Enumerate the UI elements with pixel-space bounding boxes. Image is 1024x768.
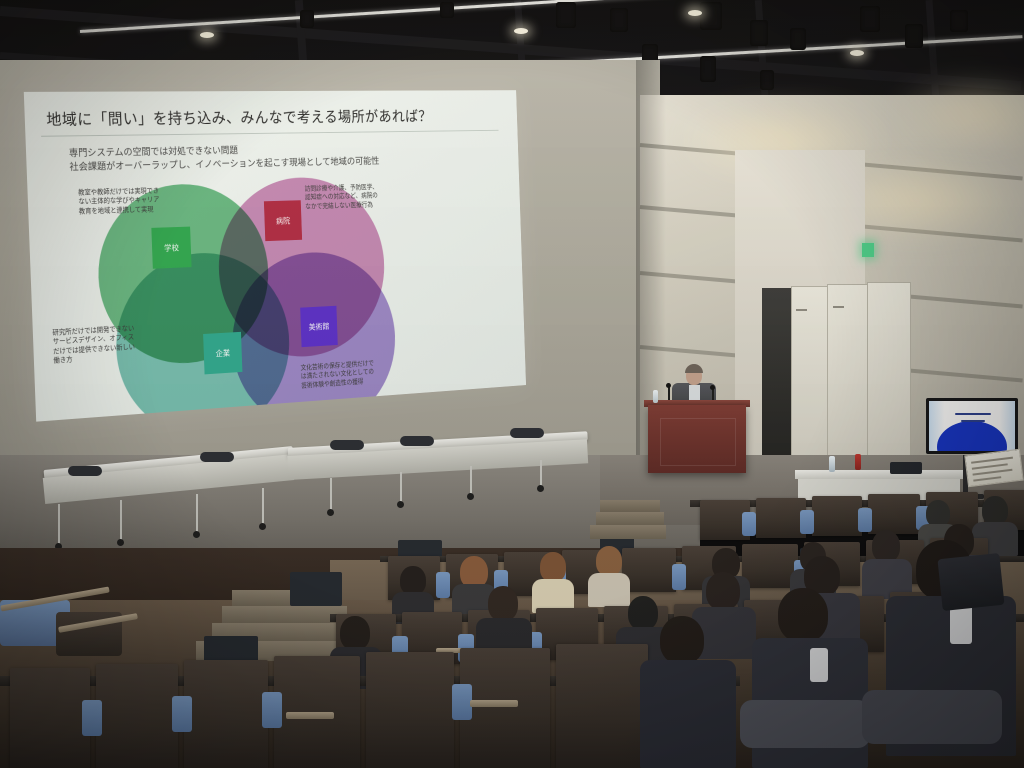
slide-title-rule — [41, 130, 498, 137]
slide-title: 地域に「問い」を持ち込み、みんなで考える場所があれば？ — [46, 105, 432, 130]
thermos-bottle — [855, 454, 861, 470]
venn-label-school: 学校 — [151, 227, 191, 269]
stage-chair — [400, 436, 434, 446]
av-table — [795, 470, 965, 479]
exit-sign — [862, 243, 874, 257]
monitor-slide-arc — [937, 421, 1007, 451]
stage-step — [590, 525, 666, 539]
water-bottle — [829, 456, 835, 472]
stage-step — [600, 500, 660, 512]
microphone-head — [710, 385, 715, 390]
door-panel[interactable] — [867, 282, 911, 470]
empty-seat-cushion[interactable] — [0, 648, 52, 688]
stage-step — [596, 512, 664, 525]
door-panel[interactable] — [791, 286, 829, 468]
stage-chair — [68, 466, 102, 476]
stage-step — [222, 606, 347, 623]
venn-note-hospital: 訪問診療や介護、予防医学、 認知症への対応など、病院の なかで完結しない医療行為 — [305, 182, 420, 211]
trousers — [862, 690, 1002, 744]
door-panel[interactable] — [827, 284, 869, 470]
venn-label-hospital: 病院 — [264, 200, 302, 241]
folding-chair[interactable] — [937, 553, 1004, 611]
stage-light — [556, 2, 576, 28]
venn-note-school: 教室や教師だけでは実現でき ない主体的な学びやキャリア 教育を地域と連携して実現 — [78, 186, 201, 217]
printed-sign — [964, 449, 1023, 488]
venn-label-museum: 美術館 — [300, 306, 338, 347]
dress-shirt-collar — [810, 648, 828, 682]
auditorium-photo: 地域に「問い」を持ち込み、みんなで考える場所があれば？ 専門システムの空間では対… — [0, 0, 1024, 768]
open-doorway — [762, 288, 792, 463]
confidence-monitor — [926, 398, 1018, 454]
stage-chair — [200, 452, 234, 462]
stage-chair — [510, 428, 544, 438]
microphone-head — [666, 383, 671, 388]
projection-screen: 地域に「問い」を持ち込み、みんなで考える場所があれば？ 専門システムの空間では対… — [24, 90, 526, 421]
podium-front-panel — [660, 418, 736, 466]
monitor-screen — [929, 401, 1015, 451]
trousers — [740, 700, 870, 748]
stage-chair — [330, 440, 364, 450]
water-bottle — [653, 390, 658, 403]
venn-label-company: 企業 — [203, 332, 242, 375]
laptop[interactable] — [890, 462, 922, 474]
